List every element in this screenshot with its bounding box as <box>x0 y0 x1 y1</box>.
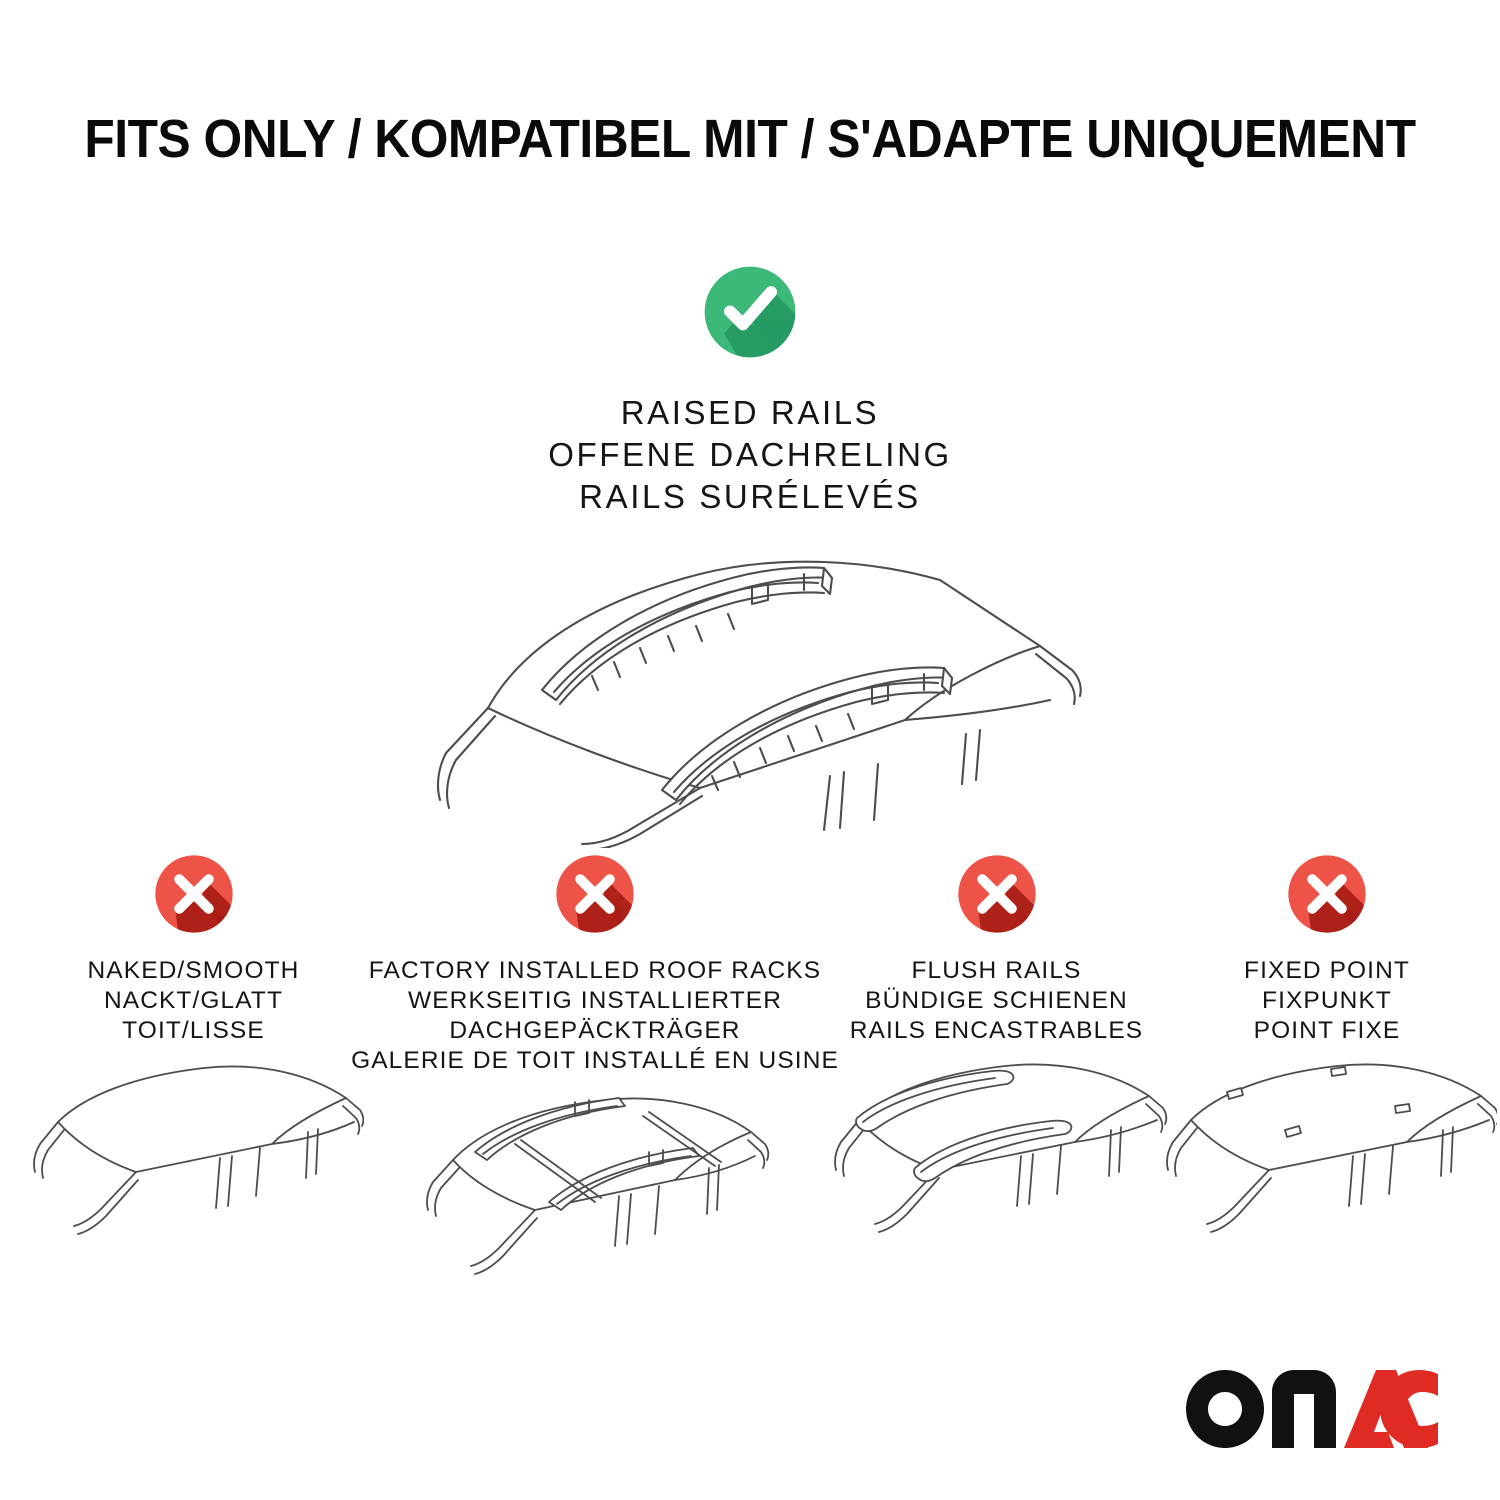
omac-logo-mark <box>1186 1370 1438 1448</box>
incompatible-item-flush-rails: FLUSH RAILS BÜNDIGE SCHIENEN RAILS ENCAS… <box>821 848 1172 1275</box>
caption-line-en: FACTORY INSTALLED ROOF RACKS <box>351 956 839 986</box>
incompatible-caption: NAKED/SMOOTH NACKT/GLATT TOIT/LISSE <box>88 956 300 1046</box>
caption-line-fr: TOIT/LISSE <box>88 1016 300 1046</box>
car-roof-raised-rails-illustration <box>400 538 1100 848</box>
car-roof-factory-racks-illustration <box>409 1090 781 1305</box>
incompatible-caption: FIXED POINT FIXPUNKT POINT FIXE <box>1244 956 1410 1046</box>
page-title: FITS ONLY / KOMPATIBEL MIT / S'ADAPTE UN… <box>60 108 1440 170</box>
caption-line-de: FIXPUNKT <box>1244 986 1410 1016</box>
car-roof-fixed-point-illustration <box>1157 1060 1497 1275</box>
caption-line-de: NACKT/GLATT <box>88 986 300 1016</box>
cross-circle-icon <box>1281 848 1373 940</box>
car-roof-naked-smooth-illustration <box>24 1060 364 1275</box>
omac-logo: OMAC <box>1186 1370 1438 1448</box>
caption-line-fr: POINT FIXE <box>1244 1016 1410 1046</box>
cross-circle-icon <box>951 848 1043 940</box>
caption-line-en: NAKED/SMOOTH <box>88 956 300 986</box>
caption-line-en: RAISED RAILS <box>548 392 952 434</box>
cross-circle-icon <box>549 848 641 940</box>
incompatible-item-naked-smooth: NAKED/SMOOTH NACKT/GLATT TOIT/LISSE <box>18 848 369 1275</box>
compatible-caption: RAISED RAILS OFFENE DACHRELING RAILS SUR… <box>548 392 952 518</box>
caption-line-en: FLUSH RAILS <box>850 956 1143 986</box>
cross-circle-icon <box>148 848 240 940</box>
caption-line-en: FIXED POINT <box>1244 956 1410 986</box>
incompatible-item-fixed-point: FIXED POINT FIXPUNKT POINT FIXE <box>1172 848 1482 1275</box>
caption-line-fr: RAILS SURÉLEVÉS <box>548 476 952 518</box>
caption-line-de: OFFENE DACHRELING <box>548 434 952 476</box>
incompatible-caption: FACTORY INSTALLED ROOF RACKS WERKSEITIG … <box>351 956 839 1076</box>
check-circle-icon <box>696 258 804 366</box>
compatible-section: RAISED RAILS OFFENE DACHRELING RAILS SUR… <box>0 258 1500 848</box>
caption-line-de: BÜNDIGE SCHIENEN <box>850 986 1143 1016</box>
incompatible-section: NAKED/SMOOTH NACKT/GLATT TOIT/LISSE <box>0 848 1500 1305</box>
caption-line-de-1: WERKSEITIG INSTALLIERTER <box>351 986 839 1016</box>
car-roof-flush-rails-illustration <box>823 1060 1171 1275</box>
caption-line-fr: GALERIE DE TOIT INSTALLÉ EN USINE <box>351 1046 839 1076</box>
incompatible-caption: FLUSH RAILS BÜNDIGE SCHIENEN RAILS ENCAS… <box>850 956 1143 1046</box>
caption-line-de-2: DACHGEPÄCKTRÄGER <box>351 1016 839 1046</box>
caption-line-fr: RAILS ENCASTRABLES <box>850 1016 1143 1046</box>
incompatible-item-factory-racks: FACTORY INSTALLED ROOF RACKS WERKSEITIG … <box>369 848 821 1305</box>
